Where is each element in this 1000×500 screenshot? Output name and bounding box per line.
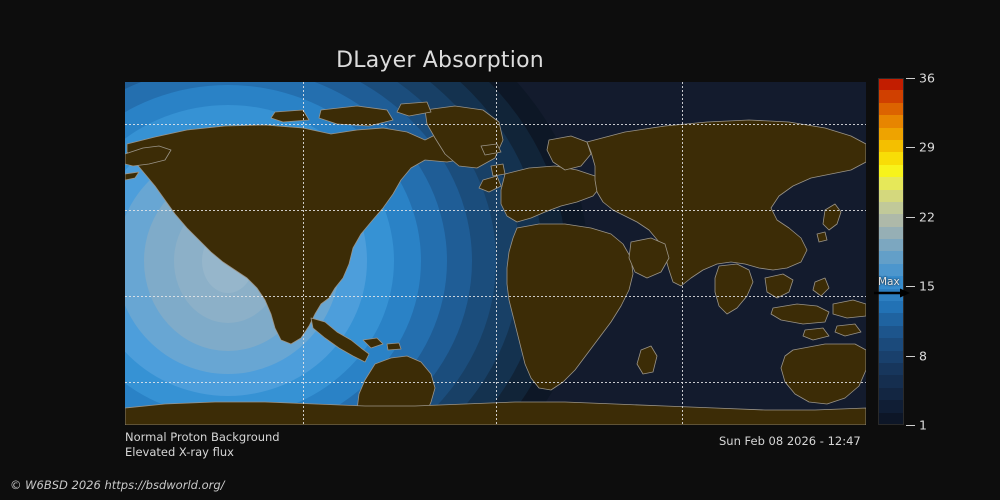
colorbar-segment bbox=[878, 375, 904, 387]
colorbar-segment bbox=[878, 140, 904, 152]
colorbar-segment bbox=[878, 202, 904, 214]
colorbar-segment bbox=[878, 115, 904, 127]
colorbar-segment bbox=[878, 388, 904, 400]
proton-status-label: Normal Proton Background bbox=[125, 430, 280, 444]
colorbar-segment bbox=[878, 90, 904, 102]
colorbar-segment bbox=[878, 313, 904, 325]
colorbar-tick bbox=[906, 425, 915, 426]
colorbar-segment bbox=[878, 301, 904, 313]
page-title: DLayer Absorption bbox=[0, 48, 880, 73]
colorbar-axis-label: Affected Frequency (MHz) bbox=[930, 80, 1000, 425]
arrow-right-icon bbox=[874, 287, 912, 299]
map-canvas bbox=[125, 82, 866, 425]
colorbar-segment bbox=[878, 177, 904, 189]
world-map[interactable] bbox=[125, 82, 866, 425]
colorbar-segment bbox=[878, 227, 904, 239]
colorbar-tick-label: 1 bbox=[919, 418, 927, 433]
colorbar-segment bbox=[878, 413, 904, 425]
colorbar-segment bbox=[878, 190, 904, 202]
colorbar-segment bbox=[878, 214, 904, 226]
colorbar-segment bbox=[878, 251, 904, 263]
max-marker: Max bbox=[874, 278, 914, 298]
copyright-notice: © W6BSD 2026 https://bsdworld.org/ bbox=[10, 478, 225, 492]
timestamp-label: Sun Feb 08 2026 - 12:47 bbox=[719, 434, 861, 448]
colorbar-segment bbox=[878, 400, 904, 412]
colorbar-segment bbox=[878, 165, 904, 177]
colorbar[interactable] bbox=[878, 78, 904, 425]
dlayer-absorption-page: DLayer Absorption bbox=[0, 0, 1000, 500]
colorbar-segment bbox=[878, 103, 904, 115]
colorbar-tick bbox=[906, 356, 915, 357]
colorbar-tick bbox=[906, 147, 915, 148]
colorbar-segment bbox=[878, 338, 904, 350]
colorbar-segment bbox=[878, 264, 904, 276]
colorbar-segment bbox=[878, 351, 904, 363]
colorbar-segment bbox=[878, 128, 904, 140]
xray-status-label: Elevated X-ray flux bbox=[125, 445, 234, 459]
colorbar-segment bbox=[878, 78, 904, 90]
colorbar-segment bbox=[878, 239, 904, 251]
colorbar-segment bbox=[878, 363, 904, 375]
colorbar-segment bbox=[878, 152, 904, 164]
colorbar-tick-label: 8 bbox=[919, 348, 927, 363]
max-marker-label: Max bbox=[878, 277, 900, 287]
colorbar-tick bbox=[906, 78, 915, 79]
colorbar-segment bbox=[878, 326, 904, 338]
colorbar-tick bbox=[906, 217, 915, 218]
